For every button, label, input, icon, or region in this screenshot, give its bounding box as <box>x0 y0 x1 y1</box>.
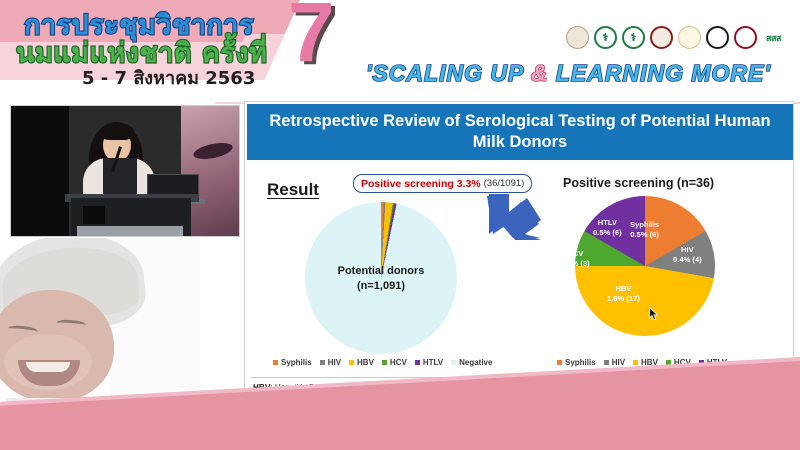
legend-label-hiv: HIV <box>328 358 341 367</box>
pie-left-center-label: Potential donors (n=1,091) <box>305 264 457 294</box>
legend2-swatch-syphilis <box>557 360 562 365</box>
legend-label-hbv: HBV <box>357 358 374 367</box>
legend2-swatch-hbv <box>633 360 638 365</box>
legend-item-syphilis: Syphilis <box>273 358 312 367</box>
slice-label-hbv-name: HBV <box>607 284 640 294</box>
slice-label-hbv-value: 1.6% (17) <box>607 294 640 304</box>
conference-date: 5 - 7 สิงหาคม 2563 <box>82 63 255 92</box>
slice-label-hcv: HCV 0.3% (3) <box>561 249 590 269</box>
callout-detail: (36/1091) <box>484 178 525 189</box>
slice-label-htlv: HTLV 0.5% (6) <box>593 218 622 238</box>
logo-green-circle-1: ⚕ <box>594 26 617 49</box>
legend2-item-hiv: HIV <box>604 358 625 367</box>
conference-tagline: 'SCALING UP & LEARNING MORE' <box>366 60 771 87</box>
legend-label-hcv: HCV <box>390 358 407 367</box>
slice-label-syphilis-name: Syphilis <box>630 220 659 230</box>
pie-left-subtitle: (n=1,091) <box>305 279 457 294</box>
slice-label-hcv-value: 0.3% (3) <box>561 259 590 269</box>
legend2-label-hiv: HIV <box>612 358 625 367</box>
legend-swatch-hcv <box>382 360 387 365</box>
legend-label-negative: Negative <box>459 358 492 367</box>
slice-label-syphilis: Syphilis 0.5% (6) <box>630 220 659 240</box>
tagline-part2: LEARNING MORE' <box>548 60 770 86</box>
legend-swatch-syphilis <box>273 360 278 365</box>
pie-left-title: Potential donors <box>305 264 457 279</box>
legend2-swatch-hiv <box>604 360 609 365</box>
slice-label-syphilis-value: 0.5% (6) <box>630 230 659 240</box>
logo-black-circle <box>706 26 729 49</box>
legend2-label-syphilis: Syphilis <box>565 358 596 367</box>
sponsor-logo-row: ⚕ ⚕ สสส <box>566 26 785 49</box>
logo-dark-red-circle <box>734 26 757 49</box>
legend-swatch-negative <box>451 360 456 365</box>
screenshot-stage: การประชุมวิชาการ นมแม่แห่งชาติ ครั้งที่ … <box>0 0 800 450</box>
logo-green-circle-2: ⚕ <box>622 26 645 49</box>
legend-swatch-hbv <box>349 360 354 365</box>
legend2-item-syphilis: Syphilis <box>557 358 596 367</box>
logo-orange-emblem <box>650 26 673 49</box>
podium-plaque <box>83 206 105 224</box>
pie-chart-positive-screening <box>575 196 715 336</box>
legend-potential-donors: Syphilis HIV HBV HCV HTLV Negative <box>273 358 492 367</box>
result-heading: Result <box>267 180 319 200</box>
slice-label-htlv-name: HTLV <box>593 218 622 228</box>
tagline-ampersand: & <box>531 60 549 86</box>
logo-royal-seal <box>566 26 589 49</box>
slice-label-hcv-name: HCV <box>561 249 590 259</box>
legend-swatch-hiv <box>320 360 325 365</box>
logo-thaihealth: สสส <box>762 26 785 49</box>
slice-label-hiv-name: HIV <box>673 245 702 255</box>
legend-item-hiv: HIV <box>320 358 341 367</box>
legend-label-syphilis: Syphilis <box>281 358 312 367</box>
legend-label-htlv: HTLV <box>423 358 443 367</box>
tagline-part1: 'SCALING UP <box>366 60 531 86</box>
legend-item-negative: Negative <box>451 358 492 367</box>
mouse-cursor-icon <box>649 307 659 321</box>
speaker-video-thumbnail[interactable] <box>10 105 240 237</box>
slice-label-hbv: HBV 1.6% (17) <box>607 284 640 304</box>
pie-right-title: Positive screening (n=36) <box>563 176 714 190</box>
podium-base <box>77 226 183 237</box>
baby-teeth <box>26 362 70 372</box>
slide-title: Retrospective Review of Serological Test… <box>247 104 793 160</box>
logo-royal-crest <box>678 26 701 49</box>
slice-label-hiv-value: 0.4% (4) <box>673 255 702 265</box>
speaker-fringe <box>100 123 134 140</box>
video-background-left <box>11 106 69 237</box>
legend-swatch-htlv <box>415 360 420 365</box>
legend-item-hbv: HBV <box>349 358 374 367</box>
legend-item-htlv: HTLV <box>415 358 443 367</box>
blue-arrow-icon <box>485 190 543 242</box>
slice-label-hiv: HIV 0.4% (4) <box>673 245 702 265</box>
conference-edition-number: 7 <box>288 0 335 74</box>
legend-item-hcv: HCV <box>382 358 407 367</box>
slice-label-htlv-value: 0.5% (6) <box>593 228 622 238</box>
presentation-slide: Retrospective Review of Serological Test… <box>244 101 794 406</box>
callout-highlight: Positive screening 3.3% <box>361 178 481 190</box>
